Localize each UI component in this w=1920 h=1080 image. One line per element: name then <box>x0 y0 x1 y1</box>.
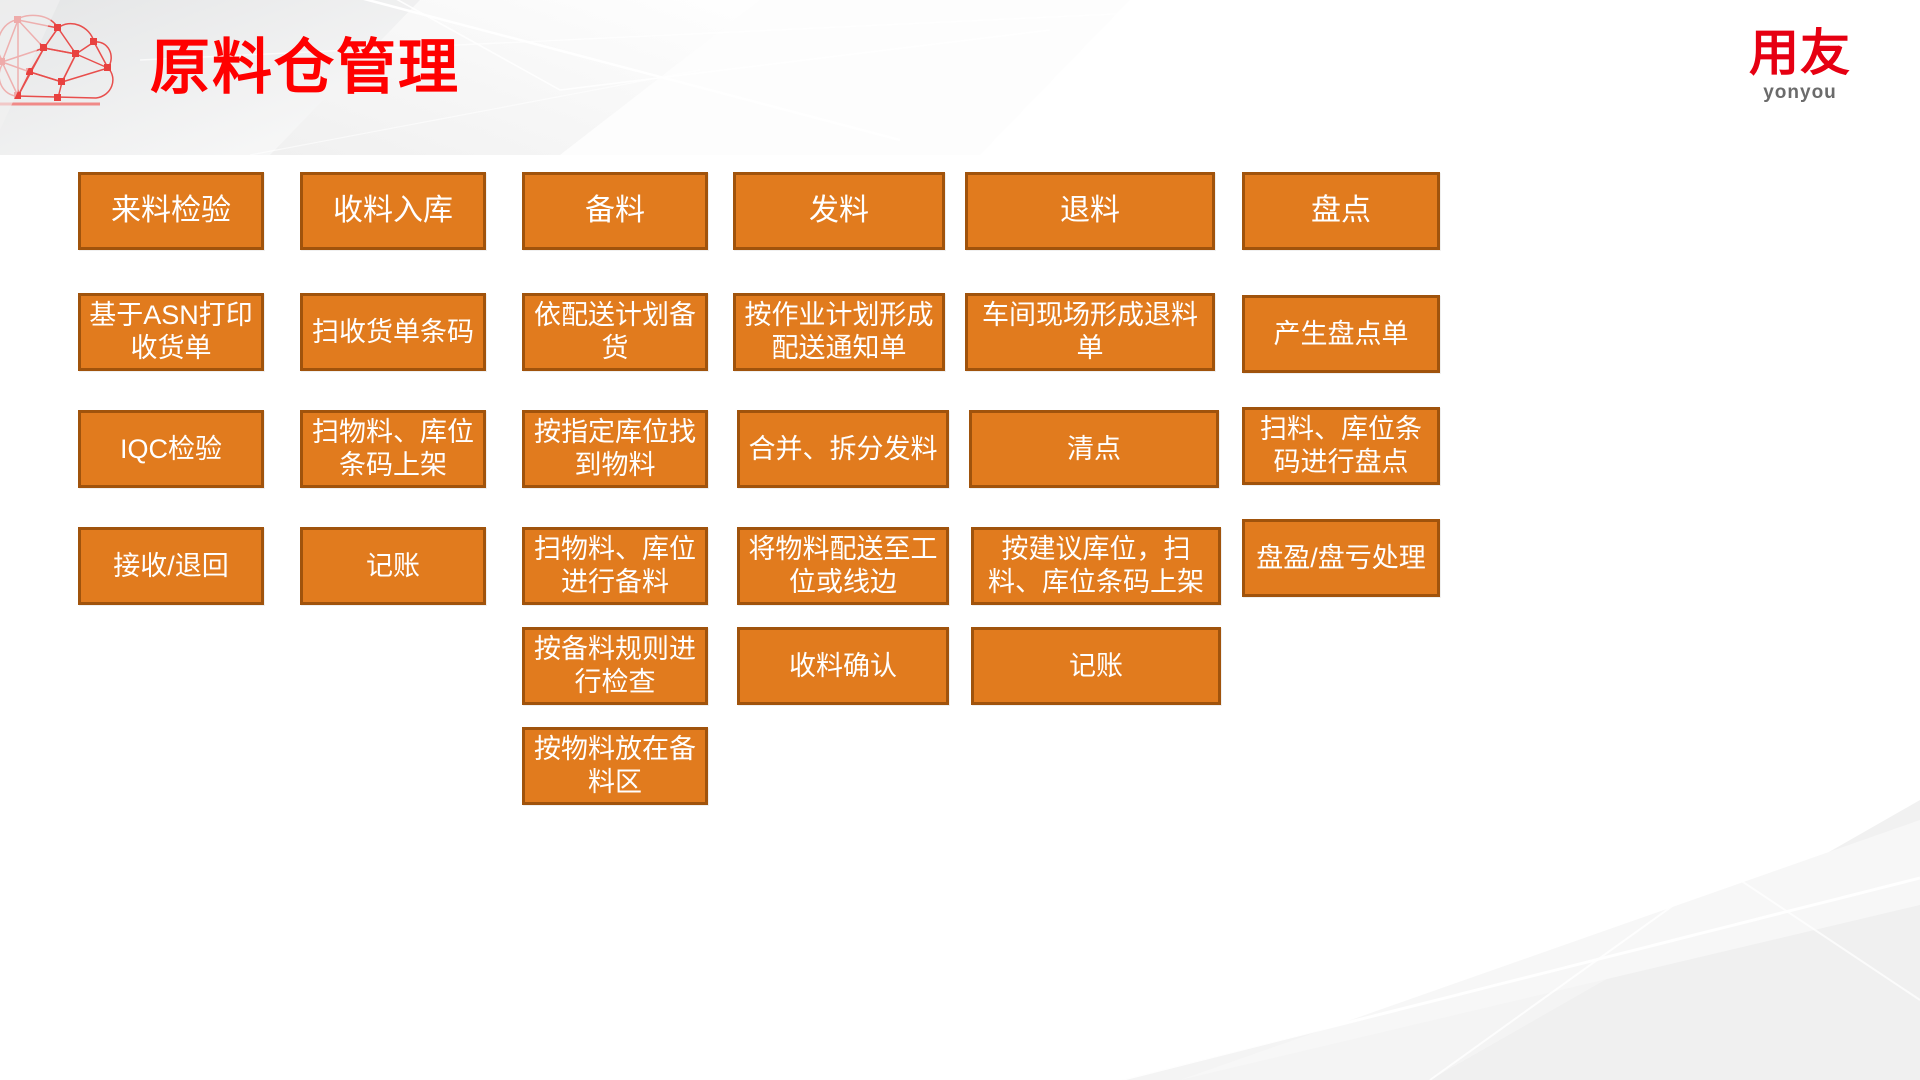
step-6-3[interactable]: 盘盈/盘亏处理 <box>1242 519 1440 597</box>
step-2-2[interactable]: 扫物料、库位条码上架 <box>300 410 486 488</box>
step-1-2[interactable]: IQC检验 <box>78 410 264 488</box>
step-3-3[interactable]: 扫物料、库位进行备料 <box>522 527 708 605</box>
step-5-1[interactable]: 车间现场形成退料单 <box>965 293 1215 371</box>
column-header-1[interactable]: 来料检验 <box>78 172 264 250</box>
step-3-2[interactable]: 按指定库位找到物料 <box>522 410 708 488</box>
step-4-4[interactable]: 收料确认 <box>737 627 949 705</box>
step-3-4[interactable]: 按备料规则进行检查 <box>522 627 708 705</box>
step-3-5[interactable]: 按物料放在备料区 <box>522 727 708 805</box>
column-header-6[interactable]: 盘点 <box>1242 172 1440 250</box>
step-6-1[interactable]: 产生盘点单 <box>1242 295 1440 373</box>
page-title: 原料仓管理 <box>150 38 460 98</box>
step-1-3[interactable]: 接收/退回 <box>78 527 264 605</box>
step-5-3[interactable]: 按建议库位，扫料、库位条码上架 <box>971 527 1221 605</box>
process-flow-grid: 来料检验 基于ASN打印收货单 IQC检验 接收/退回 收料入库 扫收货单条码 … <box>0 155 1920 1080</box>
step-6-2[interactable]: 扫料、库位条码进行盘点 <box>1242 407 1440 485</box>
column-header-3[interactable]: 备料 <box>522 172 708 250</box>
step-3-1[interactable]: 依配送计划备货 <box>522 293 708 371</box>
step-1-1[interactable]: 基于ASN打印收货单 <box>78 293 264 371</box>
column-header-2[interactable]: 收料入库 <box>300 172 486 250</box>
step-5-2[interactable]: 清点 <box>969 410 1219 488</box>
step-4-1[interactable]: 按作业计划形成配送通知单 <box>733 293 945 371</box>
page-header: 原料仓管理 用友 yonyou <box>0 0 1920 155</box>
column-header-5[interactable]: 退料 <box>965 172 1215 250</box>
step-4-3[interactable]: 将物料配送至工位或线边 <box>737 527 949 605</box>
step-4-2[interactable]: 合并、拆分发料 <box>737 410 949 488</box>
step-2-1[interactable]: 扫收货单条码 <box>300 293 486 371</box>
brand-logo-cn: 用友 <box>1716 28 1884 78</box>
brand-logo: 用友 yonyou <box>1716 28 1884 102</box>
column-header-4[interactable]: 发料 <box>733 172 945 250</box>
step-5-4[interactable]: 记账 <box>971 627 1221 705</box>
brand-logo-en: yonyou <box>1716 83 1884 102</box>
network-cloud-icon <box>0 2 126 122</box>
step-2-3[interactable]: 记账 <box>300 527 486 605</box>
